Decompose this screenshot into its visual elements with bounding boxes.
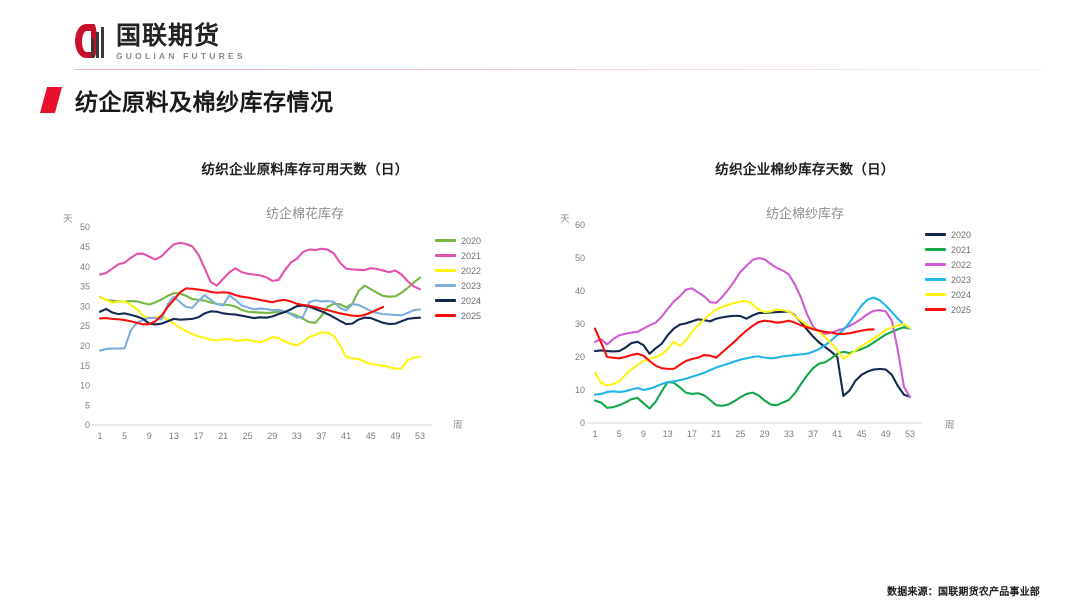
legend-label: 2021 <box>461 251 481 261</box>
legend-swatch-icon <box>435 314 456 317</box>
legend-item-2024[interactable]: 2024 <box>435 293 481 308</box>
chart-cotton-inventory: 纺织企业原料库存可用天数（日） 纺企棉花库存 天 周 0510152025303… <box>55 155 555 445</box>
legend-swatch-icon <box>925 293 946 296</box>
y-axis-tick-label: 30 <box>80 301 90 311</box>
series-line-2024 <box>595 301 910 385</box>
x-axis-tick-label: 17 <box>687 429 697 439</box>
legend-swatch-icon <box>925 233 946 236</box>
y-axis-tick-label: 10 <box>575 385 585 395</box>
y-axis-tick-label: 0 <box>580 418 585 428</box>
company-logo: 国联期货 GUOLIAN FUTURES <box>75 22 246 62</box>
line-chart-svg: 01020304050601591317212529333741454953 <box>555 155 1055 445</box>
legend-item-2025[interactable]: 2025 <box>435 308 481 323</box>
series-line-2021 <box>595 327 910 408</box>
legend-label: 2024 <box>951 290 971 300</box>
section-title-text: 纺企原料及棉纱库存情况 <box>75 83 334 117</box>
x-axis-tick-label: 49 <box>390 431 400 441</box>
y-axis-tick-label: 60 <box>575 220 585 230</box>
legend-item-2021[interactable]: 2021 <box>435 248 481 263</box>
legend-item-2022[interactable]: 2022 <box>435 263 481 278</box>
legend-item-2023[interactable]: 2023 <box>925 272 971 287</box>
x-axis-tick-label: 53 <box>905 429 915 439</box>
y-axis-tick-label: 5 <box>85 400 90 410</box>
x-axis-tick-label: 33 <box>292 431 302 441</box>
x-axis-tick-label: 17 <box>193 431 203 441</box>
y-axis-tick-label: 40 <box>80 262 90 272</box>
y-axis-tick-label: 50 <box>575 253 585 263</box>
y-axis-tick-label: 20 <box>575 352 585 362</box>
legend-label: 2022 <box>461 266 481 276</box>
x-axis-tick-label: 5 <box>122 431 127 441</box>
legend-swatch-icon <box>435 239 456 242</box>
x-axis-tick-label: 41 <box>832 429 842 439</box>
data-source-note: 数据来源：国联期货农产品事业部 <box>887 583 1040 598</box>
chart-yarn-inventory: 纺织企业棉纱库存天数（日） 纺企棉纱库存 天 周 010203040506015… <box>555 155 1055 445</box>
x-axis-tick-label: 21 <box>218 431 228 441</box>
legend-item-2023[interactable]: 2023 <box>435 278 481 293</box>
legend-item-2025[interactable]: 2025 <box>925 302 971 317</box>
slide-root: 国联期货 GUOLIAN FUTURES 纺企原料及棉纱库存情况 纺织企业原料库… <box>0 0 1080 608</box>
legend-label: 2022 <box>951 260 971 270</box>
x-axis-tick-label: 13 <box>169 431 179 441</box>
y-axis-tick-label: 40 <box>575 286 585 296</box>
x-axis-tick-label: 5 <box>617 429 622 439</box>
legend-label: 2025 <box>951 305 971 315</box>
y-axis-tick-label: 45 <box>80 242 90 252</box>
y-axis-tick-label: 35 <box>80 282 90 292</box>
x-axis-tick-label: 37 <box>808 429 818 439</box>
x-axis-tick-label: 1 <box>592 429 597 439</box>
y-axis-tick-label: 10 <box>80 381 90 391</box>
legend-label: 2020 <box>951 230 971 240</box>
x-axis-tick-label: 21 <box>711 429 721 439</box>
x-axis-tick-label: 13 <box>663 429 673 439</box>
logo-mark-icon <box>75 22 109 62</box>
legend-swatch-icon <box>925 248 946 251</box>
legend-item-2020[interactable]: 2020 <box>925 227 971 242</box>
header-divider <box>75 69 1043 70</box>
legend-label: 2023 <box>461 281 481 291</box>
x-axis-tick-label: 1 <box>97 431 102 441</box>
legend-label: 2020 <box>461 236 481 246</box>
x-axis-tick-label: 45 <box>857 429 867 439</box>
x-axis-tick-label: 49 <box>881 429 891 439</box>
legend-swatch-icon <box>435 299 456 302</box>
x-axis-tick-label: 45 <box>366 431 376 441</box>
x-axis-tick-label: 41 <box>341 431 351 441</box>
y-axis-tick-label: 15 <box>80 361 90 371</box>
y-axis-tick-label: 20 <box>80 341 90 351</box>
y-axis-tick-label: 25 <box>80 321 90 331</box>
x-axis-tick-label: 9 <box>147 431 152 441</box>
x-axis-tick-label: 29 <box>267 431 277 441</box>
legend-swatch-icon <box>435 284 456 287</box>
logo-english-name: GUOLIAN FUTURES <box>116 52 246 61</box>
legend-swatch-icon <box>925 278 946 281</box>
x-axis-tick-label: 25 <box>735 429 745 439</box>
chart-left-legend: 202020212022202320242025 <box>435 233 481 323</box>
legend-item-2021[interactable]: 2021 <box>925 242 971 257</box>
legend-label: 2023 <box>951 275 971 285</box>
accent-bar-icon <box>40 87 62 113</box>
y-axis-tick-label: 0 <box>85 420 90 430</box>
y-axis-tick-label: 50 <box>80 222 90 232</box>
logo-chinese-name: 国联期货 <box>116 23 246 48</box>
legend-swatch-icon <box>925 263 946 266</box>
legend-item-2020[interactable]: 2020 <box>435 233 481 248</box>
x-axis-tick-label: 25 <box>243 431 253 441</box>
legend-swatch-icon <box>925 308 946 311</box>
legend-swatch-icon <box>435 254 456 257</box>
legend-label: 2021 <box>951 245 971 255</box>
legend-item-2024[interactable]: 2024 <box>925 287 971 302</box>
legend-label: 2025 <box>461 311 481 321</box>
chart-right-plot-area: 01020304050601591317212529333741454953 <box>555 155 1055 445</box>
legend-item-2022[interactable]: 2022 <box>925 257 971 272</box>
y-axis-tick-label: 30 <box>575 319 585 329</box>
chart-right-legend: 202020212022202320242025 <box>925 227 971 317</box>
x-axis-tick-label: 33 <box>784 429 794 439</box>
legend-label: 2024 <box>461 296 481 306</box>
legend-swatch-icon <box>435 269 456 272</box>
section-title: 纺企原料及棉纱库存情况 <box>40 83 334 117</box>
slide-header: 国联期货 GUOLIAN FUTURES <box>0 0 1080 76</box>
x-axis-tick-label: 9 <box>641 429 646 439</box>
x-axis-tick-label: 29 <box>760 429 770 439</box>
x-axis-tick-label: 37 <box>317 431 327 441</box>
series-line-2022 <box>595 258 910 397</box>
series-line-2021 <box>100 243 420 289</box>
x-axis-tick-label: 53 <box>415 431 425 441</box>
